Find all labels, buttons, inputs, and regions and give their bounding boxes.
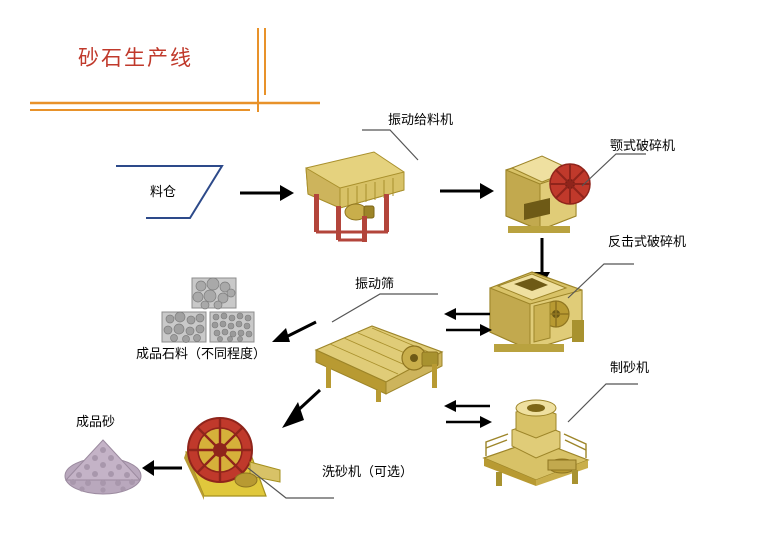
finished-stone-label: 成品石料（不同程度）	[136, 348, 266, 362]
title-decoration	[20, 20, 340, 120]
arrow-feeder-to-jaw	[438, 180, 496, 202]
vibrating-screen-label: 振动筛	[355, 278, 394, 292]
jaw-crusher-label: 颚式破碎机	[610, 140, 675, 154]
sand-maker-leader-line	[566, 382, 640, 430]
arrow-hopper-to-feeder	[238, 182, 296, 204]
sand-maker-label: 制砂机	[610, 362, 649, 376]
sand-washer-label: 洗砂机（可选）	[322, 466, 413, 480]
arrow-screen-to-stone	[270, 318, 318, 344]
vibrating-screen-leader-line	[330, 292, 440, 328]
hopper-label: 料仓	[150, 186, 176, 200]
finished-sand-label: 成品砂	[76, 416, 115, 430]
diagram-canvas: 砂石生产线 料仓	[0, 0, 777, 540]
vibrating-feeder-leader-line	[360, 128, 440, 170]
finished-sand-illustration	[62, 436, 144, 496]
finished-stone-illustration	[160, 276, 270, 346]
impact-crusher-leader-line	[566, 262, 636, 304]
impact-crusher-label: 反击式破碎机	[608, 236, 686, 250]
vibrating-feeder-label: 振动给料机	[388, 114, 453, 128]
arrow-washer-to-sand	[140, 458, 184, 478]
jaw-crusher-leader-line	[580, 152, 648, 192]
